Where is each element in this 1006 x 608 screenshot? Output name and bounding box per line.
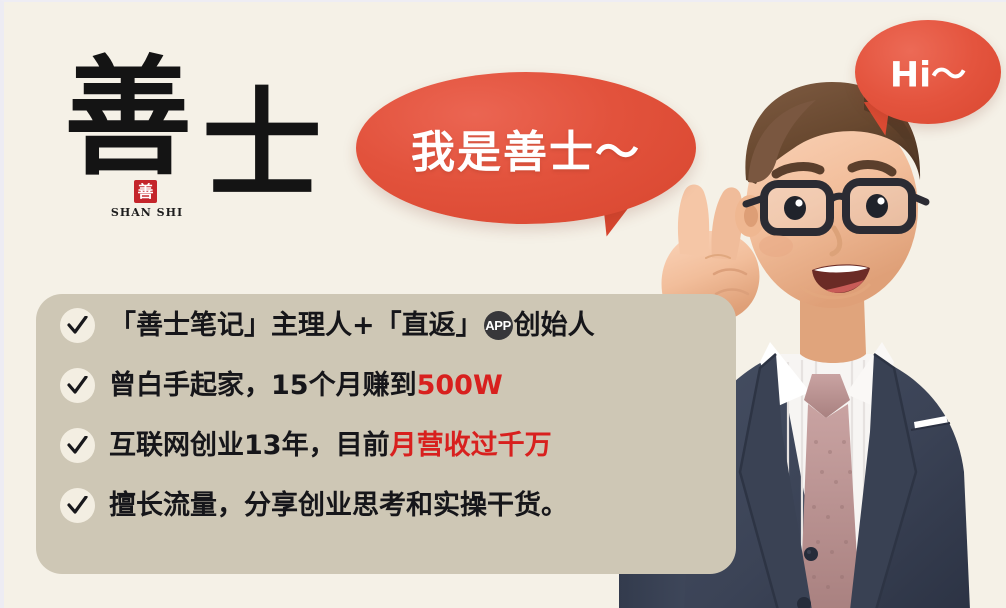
logo-char-shan: 善 <box>64 54 192 182</box>
bullet-3-part-a: 互联网创业13年，目前 <box>109 432 390 459</box>
seal-char: 善 <box>137 184 153 200</box>
speech-bubble-main-text: 我是善士～ <box>356 116 696 180</box>
list-item: 曾白手起家，15个月赚到500W <box>60 362 740 408</box>
bullet-text-4: 擅长流量，分享创业思考和实操干货。 <box>109 492 568 519</box>
logo-romanization: SHAN SHI <box>109 206 185 219</box>
bullet-text-3: 互联网创业13年，目前月营收过千万 <box>109 432 552 459</box>
bullet-4-part-a: 擅长流量，分享创业思考和实操干货。 <box>109 492 568 519</box>
check-icon <box>60 488 95 523</box>
list-item: 互联网创业13年，目前月营收过千万 <box>60 422 740 468</box>
speech-bubble-hi: Hi～ <box>855 20 1001 124</box>
bullet-text-1: 「善士笔记」主理人+「直返」APP创始人 <box>109 311 595 340</box>
bullet-1-part-c: 创始人 <box>514 312 595 339</box>
list-item: 「善士笔记」主理人+「直返」APP创始人 <box>60 302 740 348</box>
bullet-text-2: 曾白手起家，15个月赚到500W <box>109 372 503 399</box>
brand-logo: 善 士 善 SHAN SHI <box>62 54 312 244</box>
speech-bubble-main: 我是善士～ <box>356 72 696 224</box>
check-icon <box>60 368 95 403</box>
app-badge: APP <box>484 311 513 340</box>
bullet-2-part-a: 曾白手起家，15个月赚到 <box>109 372 417 399</box>
poster-canvas: 善 士 善 SHAN SHI <box>0 0 1006 608</box>
logo-char-shi: 士 <box>202 86 322 206</box>
check-icon <box>60 308 95 343</box>
bullet-3-highlight: 月营收过千万 <box>390 432 552 459</box>
bullet-list: 「善士笔记」主理人+「直返」APP创始人 曾白手起家，15个月赚到500W 互联… <box>60 302 740 542</box>
seal-stamp-icon: 善 <box>134 180 157 203</box>
bullet-2-highlight: 500W <box>417 372 503 399</box>
list-item: 擅长流量，分享创业思考和实操干货。 <box>60 482 740 528</box>
check-icon <box>60 428 95 463</box>
speech-bubble-hi-text: Hi～ <box>855 47 1001 98</box>
bullet-1-part-a: 「善士笔记」主理人+「直返」 <box>109 312 483 339</box>
